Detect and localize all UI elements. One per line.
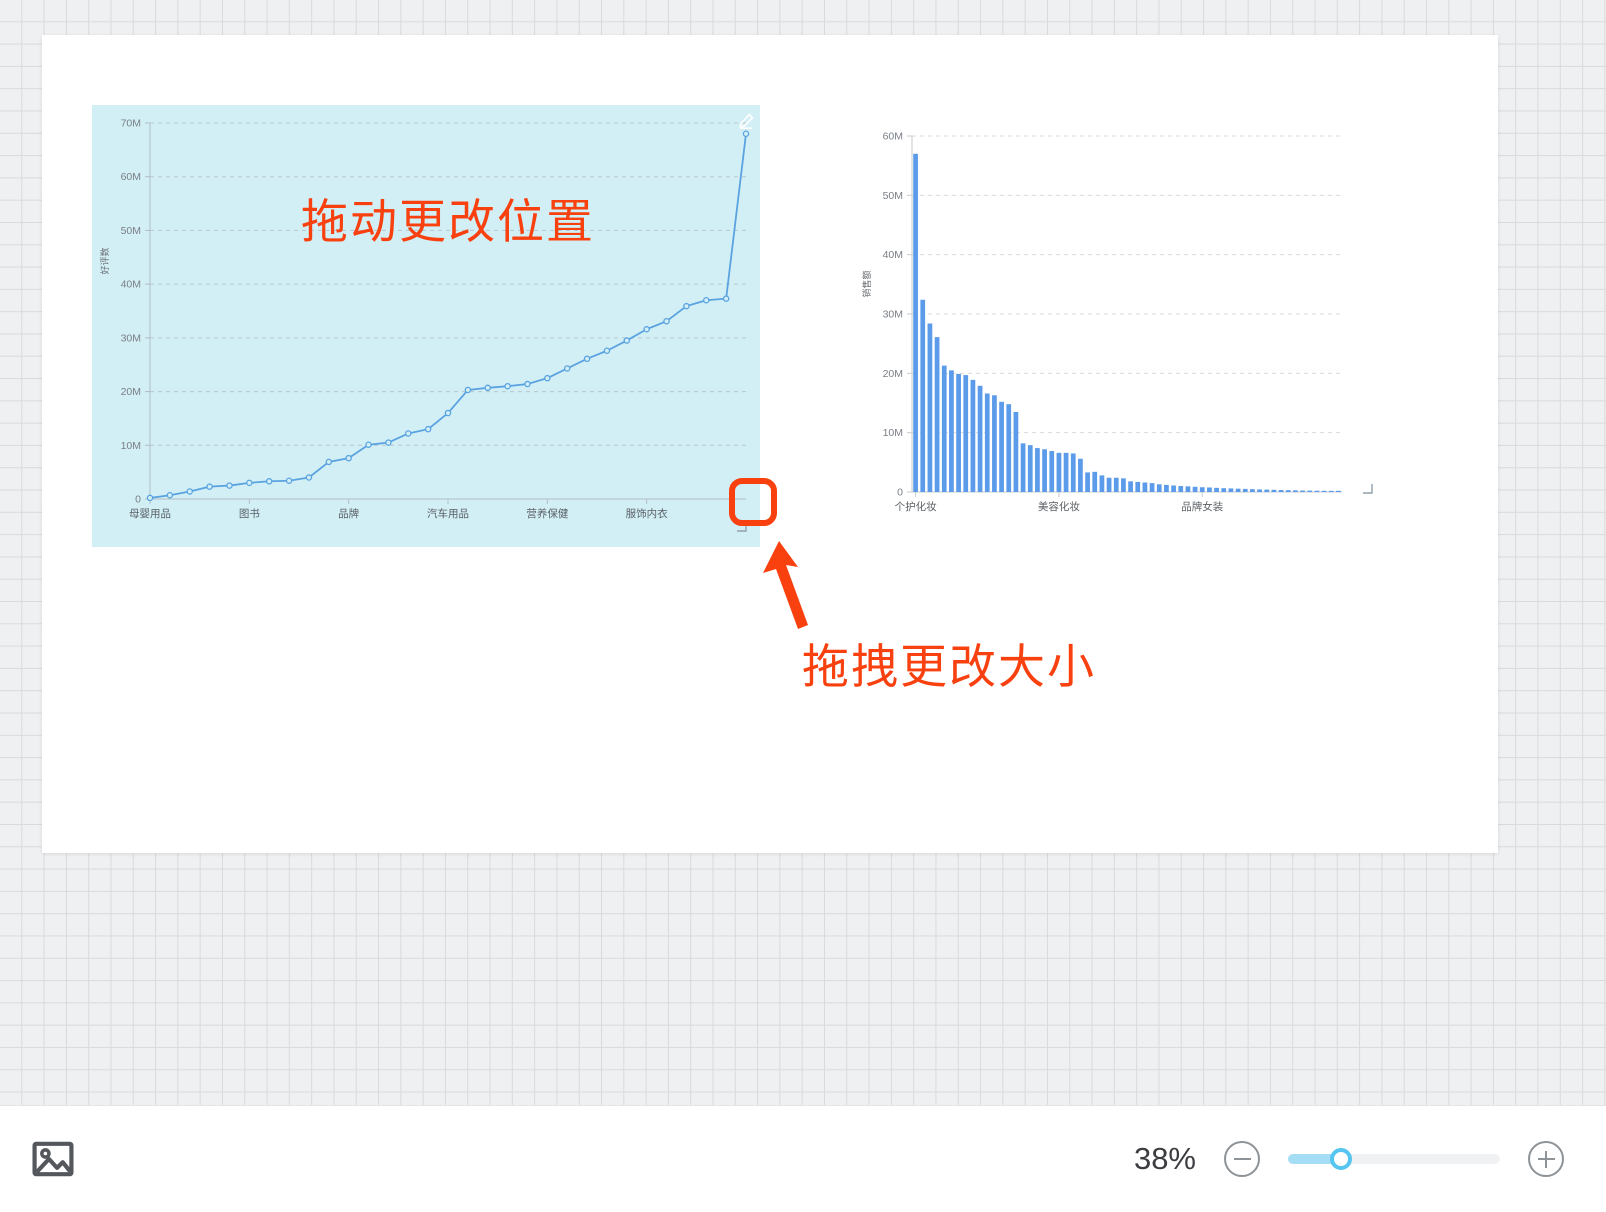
- svg-text:销售额: 销售额: [861, 270, 872, 297]
- bar-chart-widget[interactable]: 010M20M30M40M50M60M销售额个护化妆美容化妆品牌女装: [854, 120, 1354, 538]
- zoom-percent-label: 38%: [1116, 1141, 1196, 1177]
- bar-chart-resize-handle[interactable]: [1362, 483, 1374, 495]
- zoom-controls: 38%: [1116, 1141, 1564, 1177]
- bar-chart-svg: 010M20M30M40M50M60M销售额个护化妆美容化妆品牌女装: [854, 120, 1354, 538]
- svg-text:好评数: 好评数: [99, 247, 110, 274]
- line-chart-widget[interactable]: 010M20M30M40M50M60M70M好评数母婴用品图书品牌汽车用品营养保…: [92, 105, 760, 547]
- svg-text:10M: 10M: [121, 440, 141, 452]
- svg-text:10M: 10M: [883, 427, 903, 439]
- svg-text:60M: 60M: [121, 171, 141, 183]
- svg-text:汽车用品: 汽车用品: [427, 507, 469, 520]
- svg-text:美容化妆: 美容化妆: [1038, 500, 1080, 513]
- svg-text:0: 0: [897, 487, 903, 499]
- move-hint-annotation: 拖动更改位置: [301, 183, 595, 252]
- pencil-icon[interactable]: [738, 113, 754, 129]
- svg-text:20M: 20M: [121, 386, 141, 398]
- zoom-out-button[interactable]: [1224, 1141, 1260, 1177]
- svg-text:50M: 50M: [883, 190, 903, 202]
- image-icon: [32, 1141, 74, 1177]
- svg-text:50M: 50M: [121, 225, 141, 237]
- line-chart-area: 010M20M30M40M50M60M70M好评数母婴用品图书品牌汽车用品营养保…: [92, 105, 760, 547]
- zoom-in-button[interactable]: [1528, 1141, 1564, 1177]
- zoom-out-icon: [1234, 1151, 1251, 1168]
- svg-text:60M: 60M: [883, 131, 903, 143]
- svg-text:20M: 20M: [883, 368, 903, 380]
- resize-hint-annotation: 拖拽更改大小: [802, 628, 1096, 697]
- insert-image-button[interactable]: [30, 1139, 76, 1179]
- svg-text:40M: 40M: [883, 249, 903, 261]
- zoom-in-icon: [1538, 1151, 1555, 1168]
- zoom-slider-knob[interactable]: [1330, 1148, 1352, 1170]
- bottom-toolbar: 38%: [0, 1105, 1606, 1212]
- svg-text:40M: 40M: [121, 279, 141, 291]
- svg-text:0: 0: [135, 494, 141, 506]
- svg-text:服饰内衣: 服饰内衣: [626, 507, 668, 520]
- canvas-page[interactable]: 010M20M30M40M50M60M70M好评数母婴用品图书品牌汽车用品营养保…: [42, 35, 1498, 853]
- svg-text:营养保健: 营养保健: [526, 507, 568, 520]
- svg-text:30M: 30M: [121, 332, 141, 344]
- editor-root: 010M20M30M40M50M60M70M好评数母婴用品图书品牌汽车用品营养保…: [0, 0, 1606, 1212]
- svg-text:品牌: 品牌: [338, 507, 359, 520]
- bar-chart-area: 010M20M30M40M50M60M销售额个护化妆美容化妆品牌女装: [854, 120, 1354, 538]
- line-chart-svg: 010M20M30M40M50M60M70M好评数母婴用品图书品牌汽车用品营养保…: [92, 105, 760, 547]
- svg-text:30M: 30M: [883, 309, 903, 321]
- svg-text:母婴用品: 母婴用品: [129, 508, 171, 520]
- resize-handle-highlight: [729, 478, 777, 526]
- zoom-slider[interactable]: [1288, 1154, 1500, 1164]
- svg-text:70M: 70M: [121, 118, 141, 130]
- svg-text:个护化妆: 个护化妆: [895, 500, 937, 513]
- svg-text:品牌女装: 品牌女装: [1181, 500, 1223, 513]
- svg-text:图书: 图书: [239, 508, 260, 520]
